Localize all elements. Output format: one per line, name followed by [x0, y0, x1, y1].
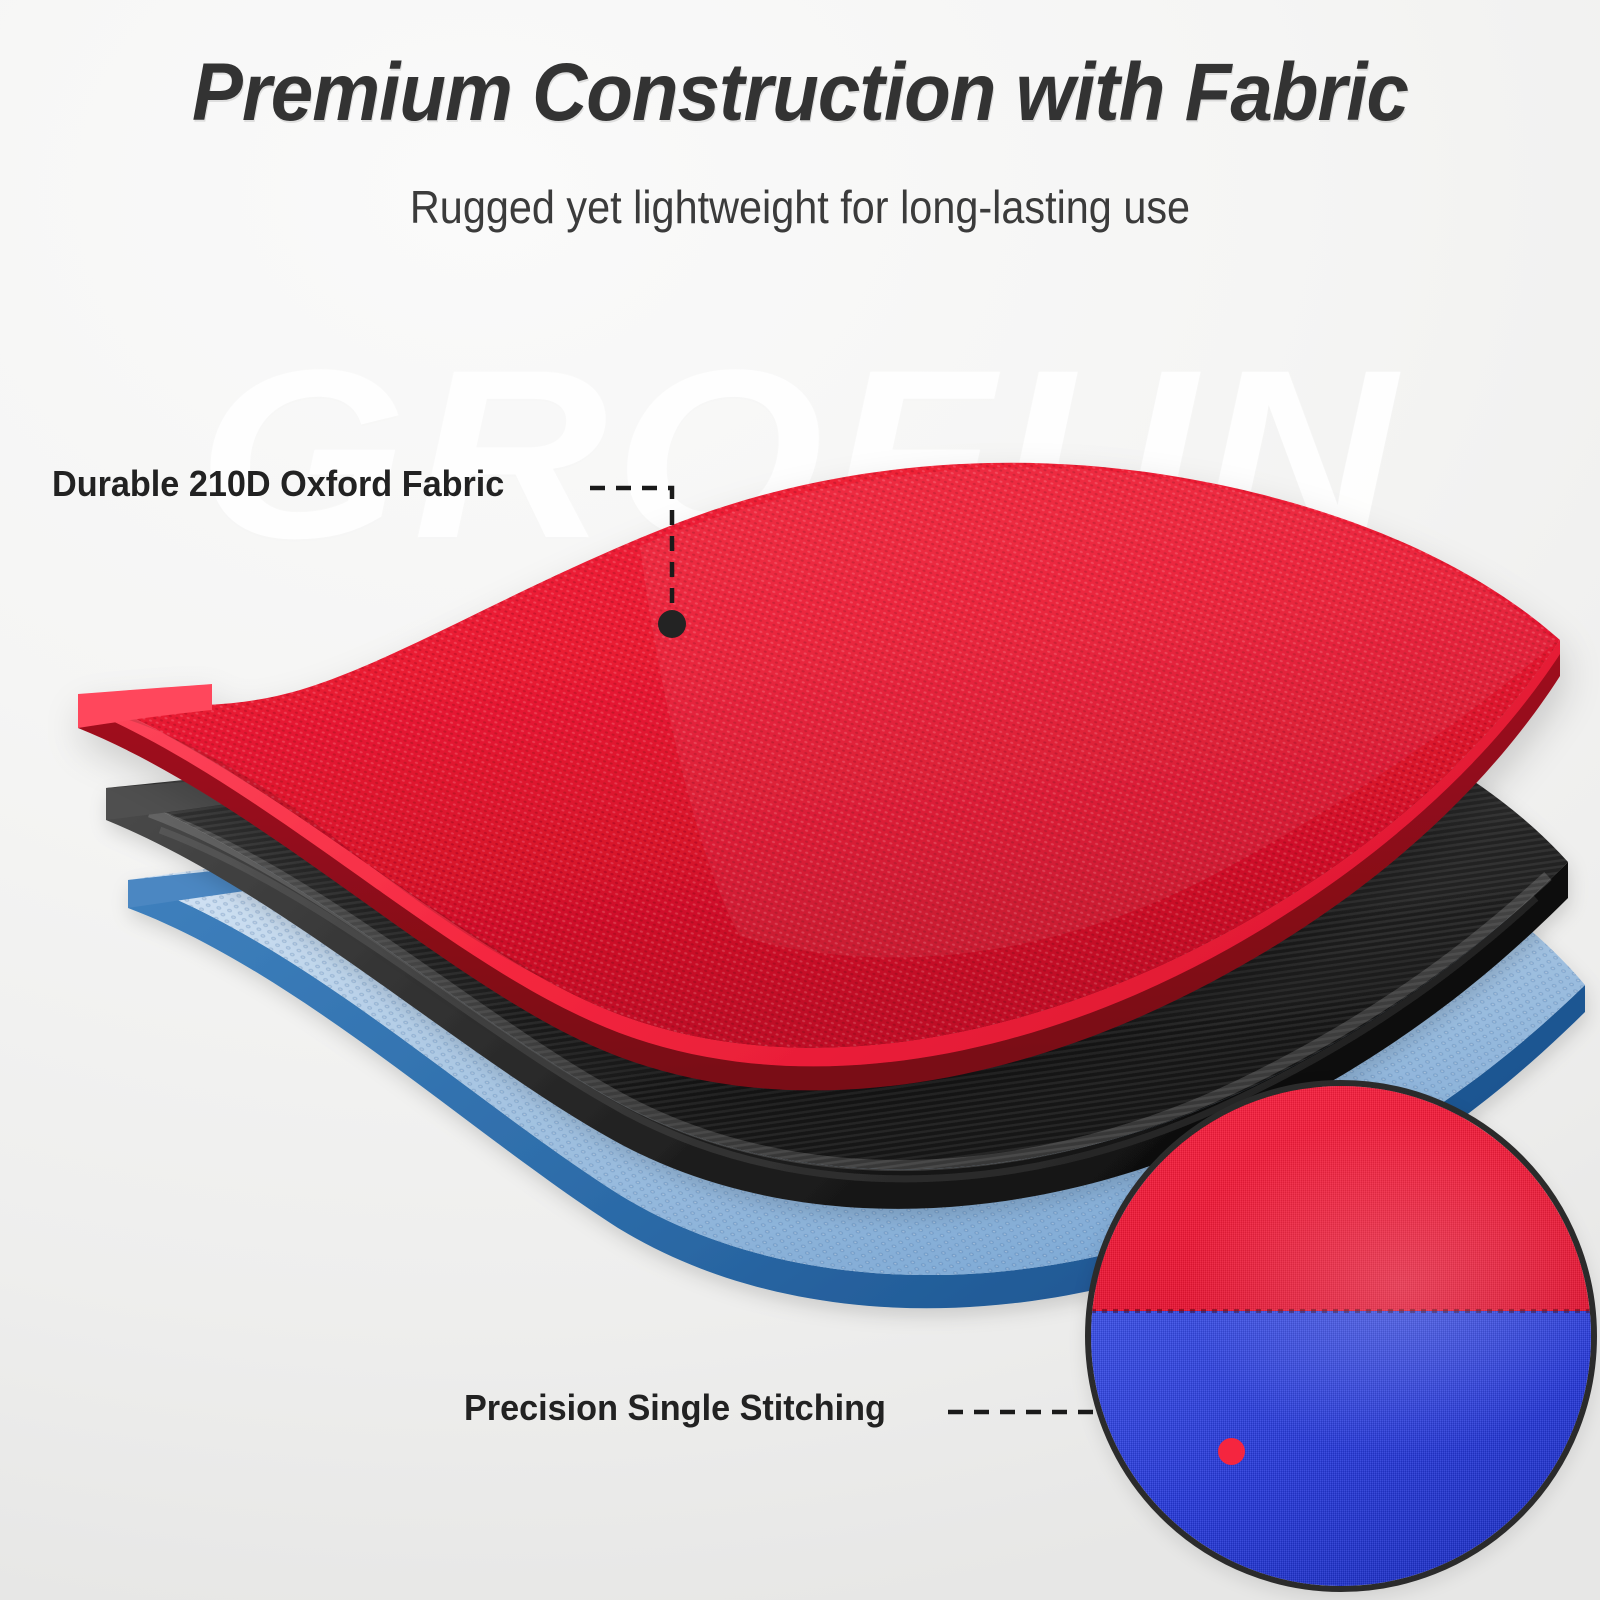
detail-blue-fabric — [1091, 1311, 1591, 1586]
detail-red-fabric — [1091, 1086, 1591, 1311]
detail-seam-line — [1091, 1309, 1591, 1313]
callout-label-stitching: Precision Single Stitching — [464, 1390, 886, 1426]
infographic-canvas: GROFUN Premium Construction with Fabric … — [0, 0, 1600, 1600]
detail-circle-stitching — [1085, 1080, 1597, 1592]
callout-label-fabric: Durable 210D Oxford Fabric — [52, 466, 504, 502]
callout-dot-fabric — [658, 610, 686, 638]
callout-dot-stitching — [1218, 1438, 1245, 1465]
